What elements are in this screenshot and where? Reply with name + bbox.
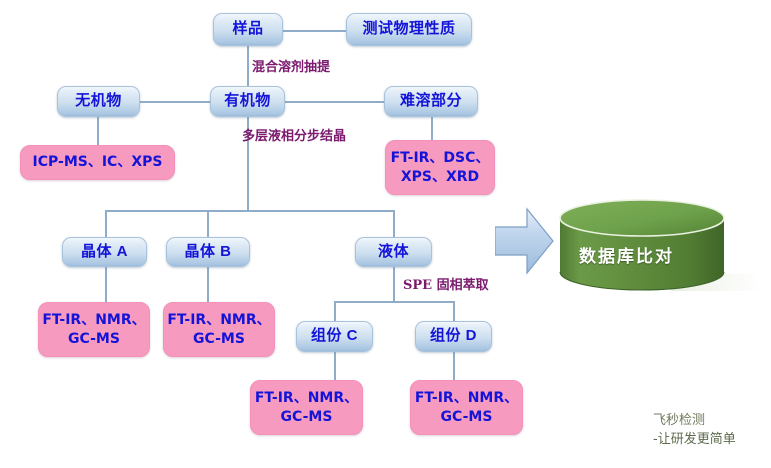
methods-inorganic[interactable]: ICP-MS、IC、XPS [20, 145, 175, 180]
methods-crystal-a-label: FT-IR、NMR、 GC-MS [42, 311, 145, 349]
edge-label-extraction: 混合溶剂抽提 [252, 56, 330, 75]
node-sample-label: 样品 [232, 21, 263, 38]
connector-organic-to-insoluble [285, 101, 384, 103]
connector-bus-to-component-c [334, 301, 336, 322]
methods-component-c-label: FT-IR、NMR、 GC-MS [255, 389, 358, 427]
connector-sample-to-physical-test [283, 30, 346, 32]
connector-inorganic-to-methods [97, 115, 99, 145]
node-organic[interactable]: 有机物 [210, 86, 285, 117]
methods-insoluble-label: FT-IR、DSC、 XPS、XRD [391, 149, 490, 187]
methods-component-c[interactable]: FT-IR、NMR、 GC-MS [250, 380, 363, 435]
methods-crystal-b[interactable]: FT-IR、NMR、 GC-MS [163, 302, 275, 357]
edge-label-crystallization: 多层液相分步结晶 [242, 125, 346, 144]
methods-insoluble[interactable]: FT-IR、DSC、 XPS、XRD [385, 140, 495, 195]
database-cylinder[interactable]: 数据库比对 [552, 196, 767, 311]
node-inorganic-label: 无机物 [75, 93, 122, 110]
connector-bus-to-component-d [453, 301, 455, 322]
node-organic-label: 有机物 [224, 93, 271, 110]
node-insoluble-label: 难溶部分 [400, 93, 462, 110]
node-crystal-b-label: 晶体 B [184, 244, 231, 261]
node-crystal-a[interactable]: 晶体 A [62, 237, 147, 267]
arrow-to-database [495, 205, 555, 282]
node-sample[interactable]: 样品 [213, 13, 283, 46]
flowchart-canvas: 样品 测试物理性质 无机物 有机物 难溶部分 晶体 A 晶体 B 液体 组份 C… [0, 0, 771, 468]
watermark: 飞秒检测 -让研发更简单 [653, 412, 736, 450]
node-component-c-label: 组份 C [311, 328, 358, 345]
connector-component-d-to-methods [453, 352, 455, 380]
connector-bus-to-crystal-b [207, 210, 209, 238]
watermark-line2: -让研发更简单 [653, 431, 736, 450]
node-physical-test-label: 测试物理性质 [362, 21, 455, 38]
node-liquid-label: 液体 [378, 244, 409, 261]
connector-bus-to-liquid [393, 210, 395, 238]
node-insoluble[interactable]: 难溶部分 [384, 86, 478, 117]
node-component-d-label: 组份 D [430, 328, 477, 345]
connector-crystal-a-to-methods [105, 266, 107, 302]
methods-inorganic-label: ICP-MS、IC、XPS [33, 153, 163, 172]
database-label: 数据库比对 [579, 242, 674, 267]
node-inorganic[interactable]: 无机物 [57, 86, 140, 117]
node-crystal-b[interactable]: 晶体 B [166, 237, 250, 267]
node-liquid[interactable]: 液体 [355, 237, 432, 267]
connector-component-c-to-methods [334, 352, 336, 380]
methods-crystal-b-label: FT-IR、NMR、 GC-MS [167, 311, 270, 349]
methods-component-d-label: FT-IR、NMR、 GC-MS [415, 389, 518, 427]
connector-sample-to-organic [247, 46, 249, 88]
connector-branch-bus [105, 210, 395, 212]
connector-crystal-b-to-methods [207, 266, 209, 302]
node-physical-test[interactable]: 测试物理性质 [346, 13, 472, 46]
connector-bus-to-crystal-a [105, 210, 107, 238]
connector-insoluble-to-methods [431, 115, 433, 140]
connector-inorganic-to-organic [140, 101, 210, 103]
connector-liquid-to-spe [393, 266, 395, 302]
connector-spe-bus [334, 301, 454, 303]
edge-label-spe: SPE 固相萃取 [403, 274, 489, 293]
watermark-line1: 飞秒检测 [653, 412, 736, 431]
node-crystal-a-label: 晶体 A [81, 244, 128, 261]
node-component-c[interactable]: 组份 C [296, 321, 373, 352]
methods-component-d[interactable]: FT-IR、NMR、 GC-MS [410, 380, 523, 435]
methods-crystal-a[interactable]: FT-IR、NMR、 GC-MS [38, 302, 150, 357]
node-component-d[interactable]: 组份 D [415, 321, 492, 352]
